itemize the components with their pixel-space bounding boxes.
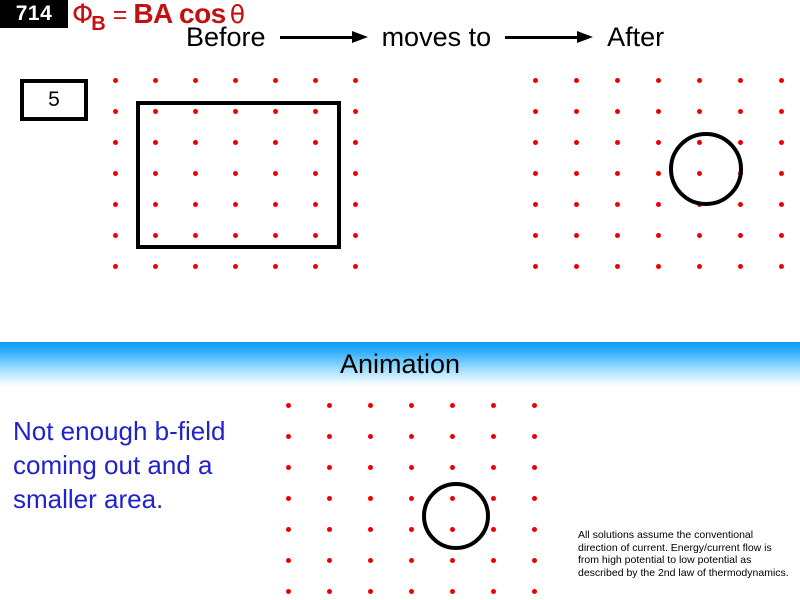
field-dot — [738, 78, 743, 83]
field-dot — [656, 233, 661, 238]
after-label: After — [607, 22, 664, 52]
field-dot — [532, 558, 537, 563]
field-dot — [532, 496, 537, 501]
field-dot — [656, 78, 661, 83]
field-dot — [193, 264, 198, 269]
field-dot — [533, 264, 538, 269]
field-dot — [233, 78, 238, 83]
answer-text: Not enough b-field coming out and a smal… — [13, 414, 275, 516]
field-dot — [779, 264, 784, 269]
arrow-shaft — [505, 36, 579, 39]
field-dot — [491, 589, 496, 594]
field-dot — [738, 202, 743, 207]
field-dot — [491, 465, 496, 470]
field-dot — [491, 403, 496, 408]
field-dot — [533, 233, 538, 238]
field-dot — [368, 589, 373, 594]
field-dot — [532, 589, 537, 594]
field-dot — [327, 496, 332, 501]
field-dot — [368, 465, 373, 470]
field-dot — [113, 140, 118, 145]
animation-banner: Animation — [0, 342, 800, 388]
field-dot — [409, 403, 414, 408]
field-dot — [409, 434, 414, 439]
field-dot — [286, 465, 291, 470]
field-dot — [656, 109, 661, 114]
field-grid-after — [524, 70, 794, 280]
field-dot — [656, 264, 661, 269]
field-dot — [738, 140, 743, 145]
field-dot — [327, 403, 332, 408]
field-dot — [532, 527, 537, 532]
transition-label: moves to — [382, 22, 492, 52]
field-dot — [574, 202, 579, 207]
field-dot — [615, 78, 620, 83]
field-dot — [113, 202, 118, 207]
field-dot — [368, 403, 373, 408]
animation-banner-title: Animation — [0, 348, 800, 380]
field-dot — [574, 264, 579, 269]
arrow-head — [577, 31, 593, 43]
field-dot — [113, 171, 118, 176]
field-dot — [153, 264, 158, 269]
field-dot — [697, 264, 702, 269]
field-dot — [532, 465, 537, 470]
field-dot — [450, 465, 455, 470]
field-grid-before — [104, 70, 374, 280]
field-dot — [409, 465, 414, 470]
field-dot — [656, 140, 661, 145]
field-dot — [113, 264, 118, 269]
field-dot — [533, 171, 538, 176]
field-dot — [368, 434, 373, 439]
field-dot — [368, 558, 373, 563]
right-arrow-icon-2 — [505, 29, 593, 45]
field-dot — [313, 264, 318, 269]
field-dot — [113, 109, 118, 114]
field-dot — [656, 202, 661, 207]
loop-circle — [422, 482, 490, 550]
field-dot — [353, 233, 358, 238]
field-dot — [327, 434, 332, 439]
field-dot — [409, 558, 414, 563]
field-dot — [286, 403, 291, 408]
field-dot — [738, 264, 743, 269]
field-dot — [738, 233, 743, 238]
field-dot — [286, 589, 291, 594]
right-arrow-icon — [280, 29, 368, 45]
field-dot — [327, 527, 332, 532]
field-dot — [353, 140, 358, 145]
field-dot — [615, 109, 620, 114]
field-dot — [738, 109, 743, 114]
field-dot — [153, 78, 158, 83]
field-dot — [233, 264, 238, 269]
field-dot — [779, 140, 784, 145]
field-dot — [574, 171, 579, 176]
field-dot — [286, 434, 291, 439]
field-dot — [491, 527, 496, 532]
field-dot — [450, 589, 455, 594]
arrow-head — [352, 31, 368, 43]
phi-subscript-b: B — [91, 13, 105, 35]
field-dot — [368, 496, 373, 501]
arrow-shaft — [280, 36, 354, 39]
disclaimer-text: All solutions assume the conventional di… — [578, 529, 794, 579]
field-dot — [615, 171, 620, 176]
field-dot — [409, 589, 414, 594]
field-dot — [286, 527, 291, 532]
field-dot — [532, 403, 537, 408]
field-dot — [615, 202, 620, 207]
field-dot — [697, 233, 702, 238]
field-dot — [193, 78, 198, 83]
field-dot — [368, 527, 373, 532]
field-dot — [491, 558, 496, 563]
field-dot — [574, 233, 579, 238]
field-dot — [409, 527, 414, 532]
field-dot — [327, 558, 332, 563]
field-dot — [615, 233, 620, 238]
field-dot — [533, 140, 538, 145]
field-dot — [656, 171, 661, 176]
field-dot — [533, 202, 538, 207]
field-dot — [779, 233, 784, 238]
field-dot — [779, 202, 784, 207]
field-dot — [113, 233, 118, 238]
field-dot — [450, 434, 455, 439]
field-dot — [697, 78, 702, 83]
field-dot — [491, 434, 496, 439]
field-dot — [353, 264, 358, 269]
field-dot — [286, 558, 291, 563]
field-dot — [353, 171, 358, 176]
field-dot — [574, 109, 579, 114]
field-dot — [353, 202, 358, 207]
slide-number-badge: 714 — [0, 0, 68, 28]
field-dot — [533, 78, 538, 83]
field-dot — [533, 109, 538, 114]
field-dot — [113, 78, 118, 83]
field-dot — [779, 171, 784, 176]
loop-rectangle — [136, 101, 341, 249]
field-dot — [450, 403, 455, 408]
field-dot — [327, 589, 332, 594]
field-dot — [779, 78, 784, 83]
question-number-box: 5 — [20, 79, 88, 121]
field-dot — [615, 140, 620, 145]
equals-sign: = — [113, 1, 128, 29]
field-dot — [574, 140, 579, 145]
field-dot — [273, 264, 278, 269]
field-dot — [327, 465, 332, 470]
field-dot — [353, 78, 358, 83]
field-dot — [491, 496, 496, 501]
flow-header: Before moves to After — [186, 22, 664, 52]
field-dot — [313, 78, 318, 83]
field-dot — [615, 264, 620, 269]
field-grid-animation — [277, 394, 547, 594]
field-dot — [697, 109, 702, 114]
field-dot — [353, 109, 358, 114]
field-dot — [532, 434, 537, 439]
field-dot — [273, 78, 278, 83]
field-dot — [450, 558, 455, 563]
before-label: Before — [186, 22, 266, 52]
field-dot — [286, 496, 291, 501]
field-dot — [574, 78, 579, 83]
loop-circle — [669, 132, 743, 206]
field-dot — [779, 109, 784, 114]
field-dot — [409, 496, 414, 501]
